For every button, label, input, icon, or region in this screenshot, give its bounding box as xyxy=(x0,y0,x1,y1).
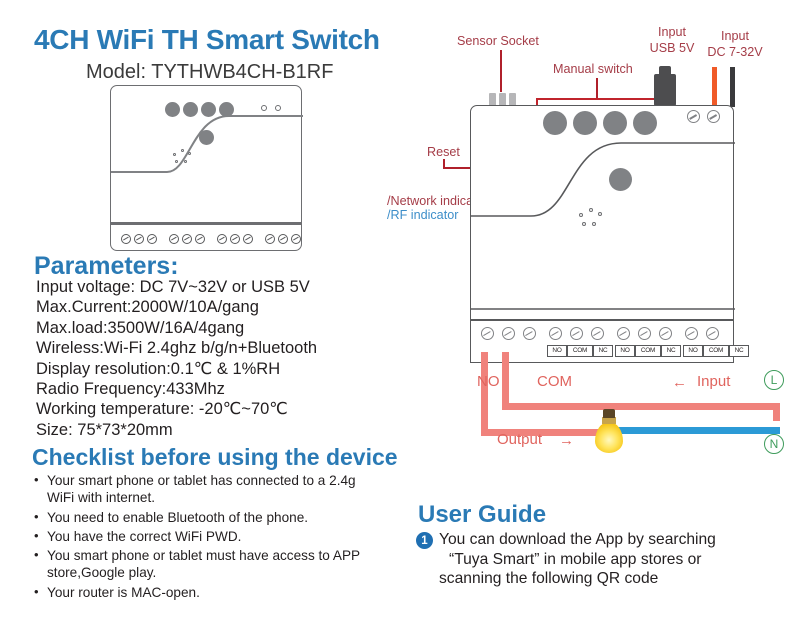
label-com: COM xyxy=(537,373,572,390)
terminal-label: NC xyxy=(729,345,749,357)
label-input: Input xyxy=(697,373,730,390)
model-label: Model: TYTHWB4CH-B1RF xyxy=(86,61,333,84)
step-number-badge: 1 xyxy=(416,532,433,549)
callout-input-usb-line2: USB 5V xyxy=(641,41,703,55)
parameter-item: Working temperature: -20℃~70℃ xyxy=(36,399,386,419)
label-output: Output xyxy=(497,431,542,448)
callout-input-usb-line1: Input xyxy=(649,25,695,39)
product-illustration-main xyxy=(470,105,734,320)
device-contour-line xyxy=(471,106,735,321)
list-item: Your smart phone or tablet has connected… xyxy=(34,472,382,507)
terminal-label: NC xyxy=(661,345,681,357)
terminal-neutral-symbol: N xyxy=(764,434,784,454)
step-line: You can download the App by searching xyxy=(439,530,716,550)
terminal-block: NO COM NC NO COM NC NO COM NC xyxy=(470,320,734,363)
wire-live-drop xyxy=(773,403,780,421)
callout-input-dc-line1: Input xyxy=(712,29,758,43)
terminal-label: COM xyxy=(635,345,661,357)
label-no: NO xyxy=(477,373,500,390)
product-illustration-left xyxy=(110,85,302,251)
terminal-label: NO xyxy=(615,345,635,357)
wire-no-vertical xyxy=(481,352,488,436)
step-line: scanning the following QR code xyxy=(439,569,716,589)
wire-com-vertical xyxy=(502,352,509,410)
parameter-item: Max.Current:2000W/10A/gang xyxy=(36,297,386,317)
terminal-label: NC xyxy=(593,345,613,357)
parameter-item: Max.load:3500W/16A/4gang xyxy=(36,318,386,338)
parameters-list: Input voltage: DC 7V~32V or USB 5V Max.C… xyxy=(36,277,386,440)
callout-reset: Reset xyxy=(427,145,460,159)
terminal-label: NO xyxy=(547,345,567,357)
list-item: Your router is MAC-open. xyxy=(34,584,382,601)
parameter-item: Radio Frequency:433Mhz xyxy=(36,379,386,399)
parameter-item: Wireless:Wi-Fi 2.4ghz b/g/n+Bluetooth xyxy=(36,338,386,358)
step-line: “Tuya Smart” in mobile app stores or xyxy=(439,550,716,570)
wire-com-horizontal xyxy=(502,403,780,410)
list-item: You smart phone or tablet must have acce… xyxy=(34,547,382,582)
user-guide-step: 1 You can download the App by searching … xyxy=(416,530,781,589)
callout-input-dc-line2: DC 7-32V xyxy=(700,45,770,59)
parameter-item: Input voltage: DC 7V~32V or USB 5V xyxy=(36,277,386,297)
callout-sensor-socket: Sensor Socket xyxy=(457,34,539,48)
parameter-item: Display resolution:0.1℃ & 1%RH xyxy=(36,359,386,379)
leader-line-manual-switch xyxy=(596,78,598,99)
checklist-list: Your smart phone or tablet has connected… xyxy=(34,472,382,603)
device-contour-line xyxy=(111,86,303,252)
user-guide-heading: User Guide xyxy=(418,501,546,529)
page-title: 4CH WiFi TH Smart Switch xyxy=(34,24,380,56)
callout-rf-indicator: /RF indicator xyxy=(387,208,458,222)
terminal-live-symbol: L xyxy=(764,370,784,390)
list-item: You have the correct WiFi PWD. xyxy=(34,528,382,545)
checklist-heading: Checklist before using the device xyxy=(32,444,398,471)
terminal-label: COM xyxy=(567,345,593,357)
wire-neutral xyxy=(616,427,780,434)
usb-connector-icon xyxy=(654,66,676,106)
callout-manual-switch: Manual switch xyxy=(553,62,633,76)
dc-wires-icon xyxy=(712,67,742,107)
terminal-label: NO xyxy=(683,345,703,357)
list-item: You need to enable Bluetooth of the phon… xyxy=(34,509,382,526)
label-input-arrow: ← xyxy=(672,374,687,391)
page-root: 4CH WiFi TH Smart Switch Model: TYTHWB4C… xyxy=(0,0,800,621)
terminal-strip-divider xyxy=(111,222,301,225)
terminal-label: COM xyxy=(703,345,729,357)
light-bulb-icon xyxy=(594,409,624,453)
user-guide-step-text: You can download the App by searching “T… xyxy=(439,530,716,589)
parameter-item: Size: 75*73*20mm xyxy=(36,420,386,440)
leader-line-sensor-socket xyxy=(500,50,502,92)
label-output-arrow: → xyxy=(559,432,574,449)
